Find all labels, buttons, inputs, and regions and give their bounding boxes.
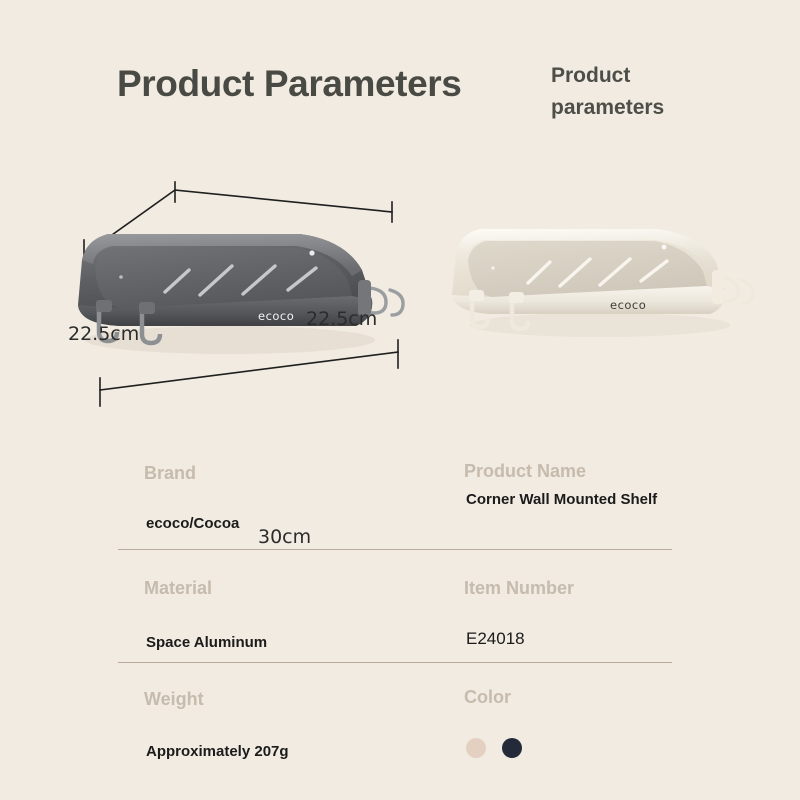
spec-label-material: Material [144, 557, 394, 601]
spec-value-item-number: E24018 [464, 601, 714, 649]
product-parameters-page: Product Parameters Product parameters [0, 0, 800, 800]
spec-label-product-name: Product Name [464, 440, 594, 484]
row-divider-2 [118, 662, 672, 663]
spec-cell-item-number: Item Number E24018 [464, 557, 714, 649]
dimension-label-top-right: 22.5cm [306, 308, 377, 330]
product-image-beige: ecoco [452, 229, 753, 337]
dimension-label-top-left: 22.5cm [68, 323, 139, 345]
spec-row-weight: Weight Approximately 207g Color [118, 670, 672, 780]
spec-table: Brand ecoco/Cocoa Product Name Corner Wa… [0, 440, 800, 800]
spec-row-material: Material Space Aluminum Item Number E240… [118, 557, 672, 670]
page-subtitle-line2: parameters [551, 96, 664, 119]
product-illustration-area: ecoco [0, 140, 800, 430]
page-subtitle-line1: Product [551, 64, 630, 87]
page-header: Product Parameters Product parameters [0, 0, 800, 150]
spec-value-brand: ecoco/Cocoa [144, 486, 394, 534]
page-title: Product Parameters [117, 63, 461, 105]
spec-label-color: Color [464, 670, 714, 710]
page-subtitle: Product parameters [551, 60, 721, 124]
spec-label-weight: Weight [144, 670, 394, 712]
spec-cell-material: Material Space Aluminum [144, 557, 394, 653]
color-swatch-group [464, 710, 714, 758]
spec-cell-brand: Brand ecoco/Cocoa [144, 440, 394, 534]
spec-value-material: Space Aluminum [144, 601, 394, 653]
spec-value-weight: Approximately 207g [144, 712, 394, 762]
color-swatch-beige[interactable] [466, 738, 486, 758]
product-images-svg: ecoco [0, 140, 800, 430]
spec-cell-product-name: Product Name Corner Wall Mounted Shelf [464, 440, 714, 510]
spec-row-brand: Brand ecoco/Cocoa Product Name Corner Wa… [118, 440, 672, 549]
spec-label-item-number: Item Number [464, 557, 714, 601]
brand-mark-beige: ecoco [610, 298, 646, 312]
spec-value-product-name: Corner Wall Mounted Shelf [464, 484, 714, 510]
spec-cell-color: Color [464, 670, 714, 758]
brand-mark-dark: ecoco [258, 309, 294, 323]
spec-label-brand: Brand [144, 440, 394, 486]
color-swatch-navy[interactable] [502, 738, 522, 758]
row-divider-1 [118, 549, 672, 550]
spec-cell-weight: Weight Approximately 207g [144, 670, 394, 762]
